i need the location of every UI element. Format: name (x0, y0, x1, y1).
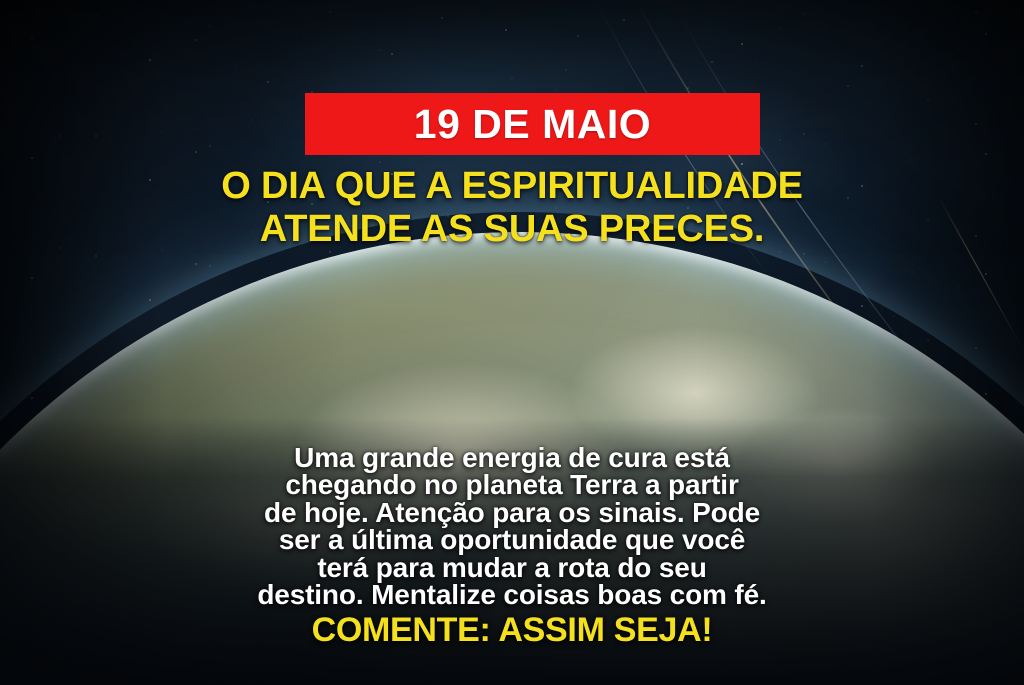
headline-line-2: ATENDE AS SUAS PRECES. (0, 208, 1024, 251)
social-media-poster: 19 DE MAIO O DIA QUE A ESPIRITUALIDADE A… (0, 0, 1024, 685)
body-line-2: chegando no planeta Terra a partir (54, 471, 970, 498)
body-line-1: Uma grande energia de cura está (54, 444, 970, 471)
body-line-6: destino. Mentalize coisas boas com fé. (54, 581, 970, 608)
date-banner-text: 19 DE MAIO (414, 104, 651, 145)
body-line-4: ser a última oportunidade que você (54, 526, 970, 553)
call-to-action-text: COMENTE: ASSIM SEJA! (0, 613, 1024, 647)
headline: O DIA QUE A ESPIRITUALIDADE ATENDE AS SU… (0, 165, 1024, 251)
poster-content: 19 DE MAIO O DIA QUE A ESPIRITUALIDADE A… (0, 0, 1024, 685)
date-banner: 19 DE MAIO (305, 93, 760, 155)
body-line-3: de hoje. Atenção para os sinais. Pode (54, 499, 970, 526)
body-line-5: terá para mudar a rota do seu (54, 554, 970, 581)
headline-line-1: O DIA QUE A ESPIRITUALIDADE (0, 165, 1024, 208)
body-paragraph: Uma grande energia de cura está chegando… (54, 444, 970, 608)
